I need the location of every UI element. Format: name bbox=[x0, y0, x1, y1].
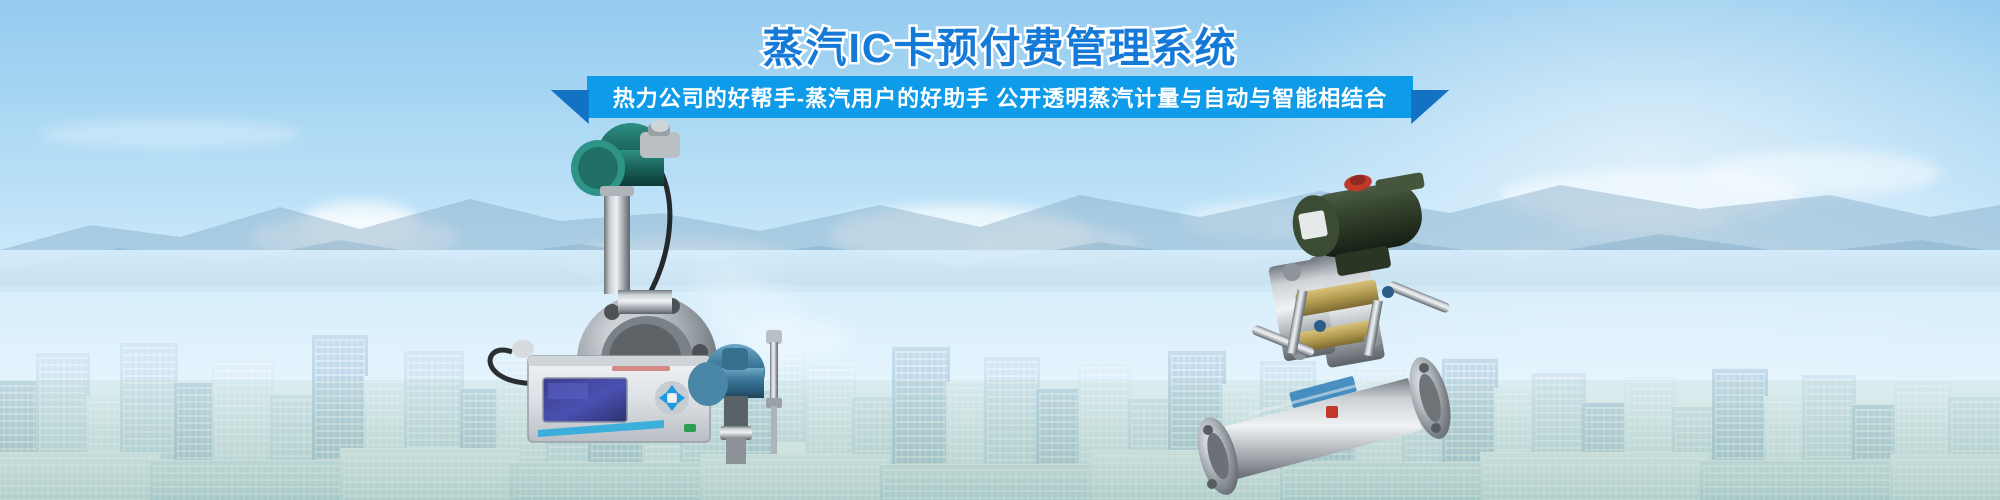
subtitle-ribbon: 热力公司的好帮手-蒸汽用户的好助手 公开透明蒸汽计量与自动与智能相结合 bbox=[587, 76, 1413, 118]
headline-container: 蒸汽IC卡预付费管理系统 bbox=[0, 14, 2000, 74]
hero-banner: 蒸汽IC卡预付费管理系统 热力公司的好帮手-蒸汽用户的好助手 公开透明蒸汽计量与… bbox=[0, 0, 2000, 500]
cityscape bbox=[0, 270, 2000, 500]
treeline bbox=[0, 380, 2000, 500]
subtitle-text: 热力公司的好帮手-蒸汽用户的好助手 公开透明蒸汽计量与自动与智能相结合 bbox=[613, 81, 1387, 113]
subtitle-ribbon-container: 热力公司的好帮手-蒸汽用户的好助手 公开透明蒸汽计量与自动与智能相结合 bbox=[0, 76, 2000, 118]
page-title: 蒸汽IC卡预付费管理系统 bbox=[763, 14, 1238, 74]
